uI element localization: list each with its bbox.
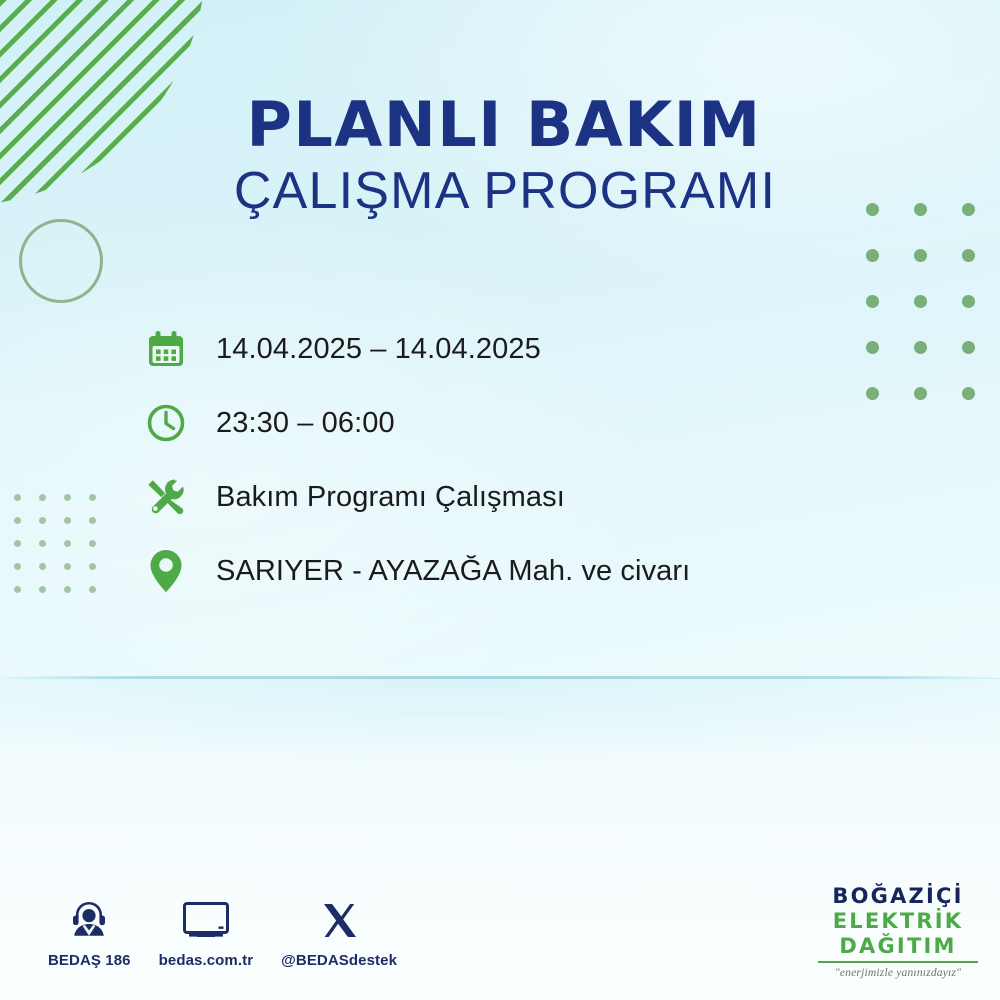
dot xyxy=(89,563,96,570)
dot xyxy=(39,586,46,593)
detail-row-location: SARIYER - AYAZAĞA Mah. ve civarı xyxy=(138,534,918,608)
detail-row-work-type: Bakım Programı Çalışması xyxy=(138,460,918,534)
dot xyxy=(914,295,927,308)
detail-text-work-type: Bakım Programı Çalışması xyxy=(194,481,565,514)
contact-phone-label: BEDAŞ 186 xyxy=(48,952,131,969)
dot xyxy=(962,249,975,262)
tools-icon xyxy=(138,469,194,525)
logo-tagline: "enerjimizle yanınızdayız" xyxy=(814,967,982,979)
page-title: PLANLI BAKIM ÇALIŞMA PROGRAMI xyxy=(0,94,1000,219)
dot xyxy=(39,494,46,501)
logo-line-bogazici: BOĞAZİÇİ xyxy=(814,884,982,909)
circle-outline-decoration xyxy=(19,219,103,303)
logo-line-dagitim: DAĞITIM xyxy=(814,934,982,959)
x-twitter-icon xyxy=(318,896,360,944)
clock-icon xyxy=(138,395,194,451)
title-secondary: ÇALIŞMA PROGRAMI xyxy=(0,164,1000,219)
dot xyxy=(64,540,71,547)
location-pin-icon xyxy=(138,543,194,599)
logo-divider xyxy=(818,961,978,963)
dot-grid-left-decoration xyxy=(14,494,114,609)
bedas-logo: BOĞAZİÇİ ELEKTRİK DAĞITIM "enerjimizle y… xyxy=(814,884,982,979)
dot xyxy=(64,563,71,570)
headset-support-icon xyxy=(66,896,112,944)
dot xyxy=(866,249,879,262)
dot xyxy=(14,586,21,593)
dot xyxy=(64,494,71,501)
dot xyxy=(89,586,96,593)
planned-maintenance-poster: PLANLI BAKIM ÇALIŞMA PROGRAMI 14.04 xyxy=(0,0,1000,1000)
dot xyxy=(14,517,21,524)
dot xyxy=(39,563,46,570)
calendar-icon xyxy=(138,321,194,377)
dot xyxy=(64,586,71,593)
contact-social[interactable]: @BEDASdestek xyxy=(281,896,397,969)
dot xyxy=(14,540,21,547)
dot xyxy=(39,540,46,547)
title-primary: PLANLI BAKIM xyxy=(0,94,1000,156)
contact-website[interactable]: bedas.com.tr xyxy=(159,896,254,969)
dot xyxy=(64,517,71,524)
dot xyxy=(14,494,21,501)
detail-text-location: SARIYER - AYAZAĞA Mah. ve civarı xyxy=(194,555,690,588)
detail-text-time: 23:30 – 06:00 xyxy=(194,407,395,440)
detail-row-time: 23:30 – 06:00 xyxy=(138,386,918,460)
monitor-icon xyxy=(180,896,232,944)
background-bottom-wave xyxy=(0,679,1000,819)
contact-phone[interactable]: BEDAŞ 186 xyxy=(48,896,131,969)
contact-website-label: bedas.com.tr xyxy=(159,952,254,969)
footer-contacts: BEDAŞ 186 bedas.com.tr xyxy=(48,896,425,969)
dot xyxy=(962,295,975,308)
dot xyxy=(89,540,96,547)
detail-text-date: 14.04.2025 – 14.04.2025 xyxy=(194,333,541,366)
dot xyxy=(962,341,975,354)
dot xyxy=(89,517,96,524)
dot xyxy=(39,517,46,524)
logo-line-elektrik: ELEKTRİK xyxy=(814,909,982,934)
dot xyxy=(962,387,975,400)
dot xyxy=(89,494,96,501)
dot xyxy=(914,249,927,262)
dot xyxy=(866,295,879,308)
dot xyxy=(14,563,21,570)
maintenance-details-list: 14.04.2025 – 14.04.2025 23:30 – 06:00 xyxy=(138,312,918,608)
contact-social-label: @BEDASdestek xyxy=(281,952,397,969)
detail-row-date: 14.04.2025 – 14.04.2025 xyxy=(138,312,918,386)
